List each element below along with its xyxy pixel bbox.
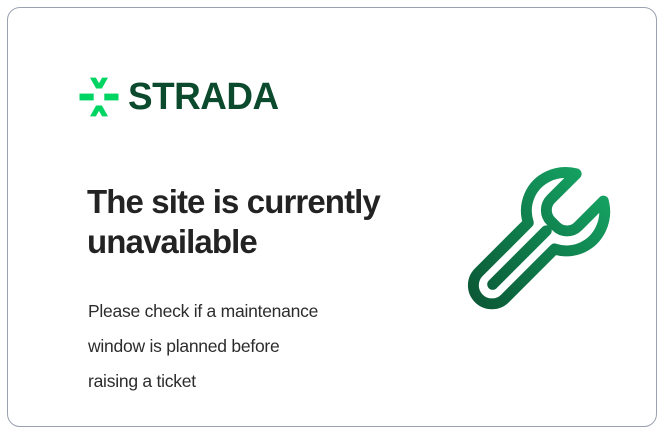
wrench-icon: [460, 158, 625, 323]
page-title: The site is currently unavailable: [87, 182, 417, 263]
error-page: STRADA The site is currently unavailable…: [0, 0, 666, 436]
brand-lockup: STRADA: [79, 74, 283, 120]
strada-asterisk-icon: [79, 77, 119, 117]
page-description: Please check if a maintenance window is …: [88, 294, 398, 399]
brand-wordmark: STRADA: [128, 78, 279, 116]
status-card: STRADA The site is currently unavailable…: [7, 7, 657, 427]
